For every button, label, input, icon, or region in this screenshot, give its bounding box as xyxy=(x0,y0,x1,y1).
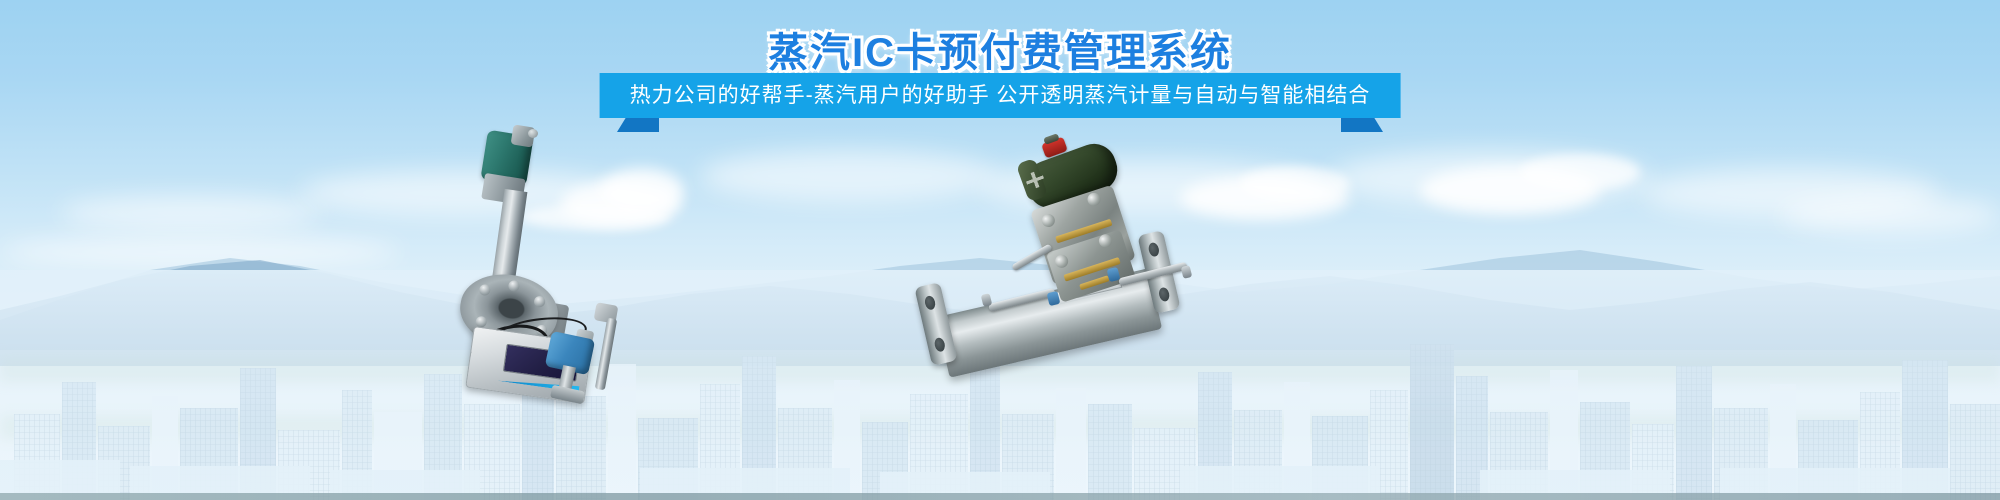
temperature-probe xyxy=(595,318,617,391)
hero-banner: 7 H 蒸汽IC卡预付费管理系统 xyxy=(0,0,2000,500)
manifold-handle-left-tip xyxy=(981,293,993,307)
subtitle-ribbon: 热力公司的好帮手-蒸汽用户的好助手 公开透明蒸汽计量与自动与智能相结合 xyxy=(0,73,2000,133)
subtitle-text: 热力公司的好帮手-蒸汽用户的好助手 公开透明蒸汽计量与自动与智能相结合 xyxy=(600,73,1401,118)
manifold-handle-right-tip xyxy=(1181,265,1193,279)
foreground-edge xyxy=(0,493,2000,500)
pipe-spool-body xyxy=(936,268,1162,377)
page-title: 蒸汽IC卡预付费管理系统 xyxy=(0,20,2000,78)
